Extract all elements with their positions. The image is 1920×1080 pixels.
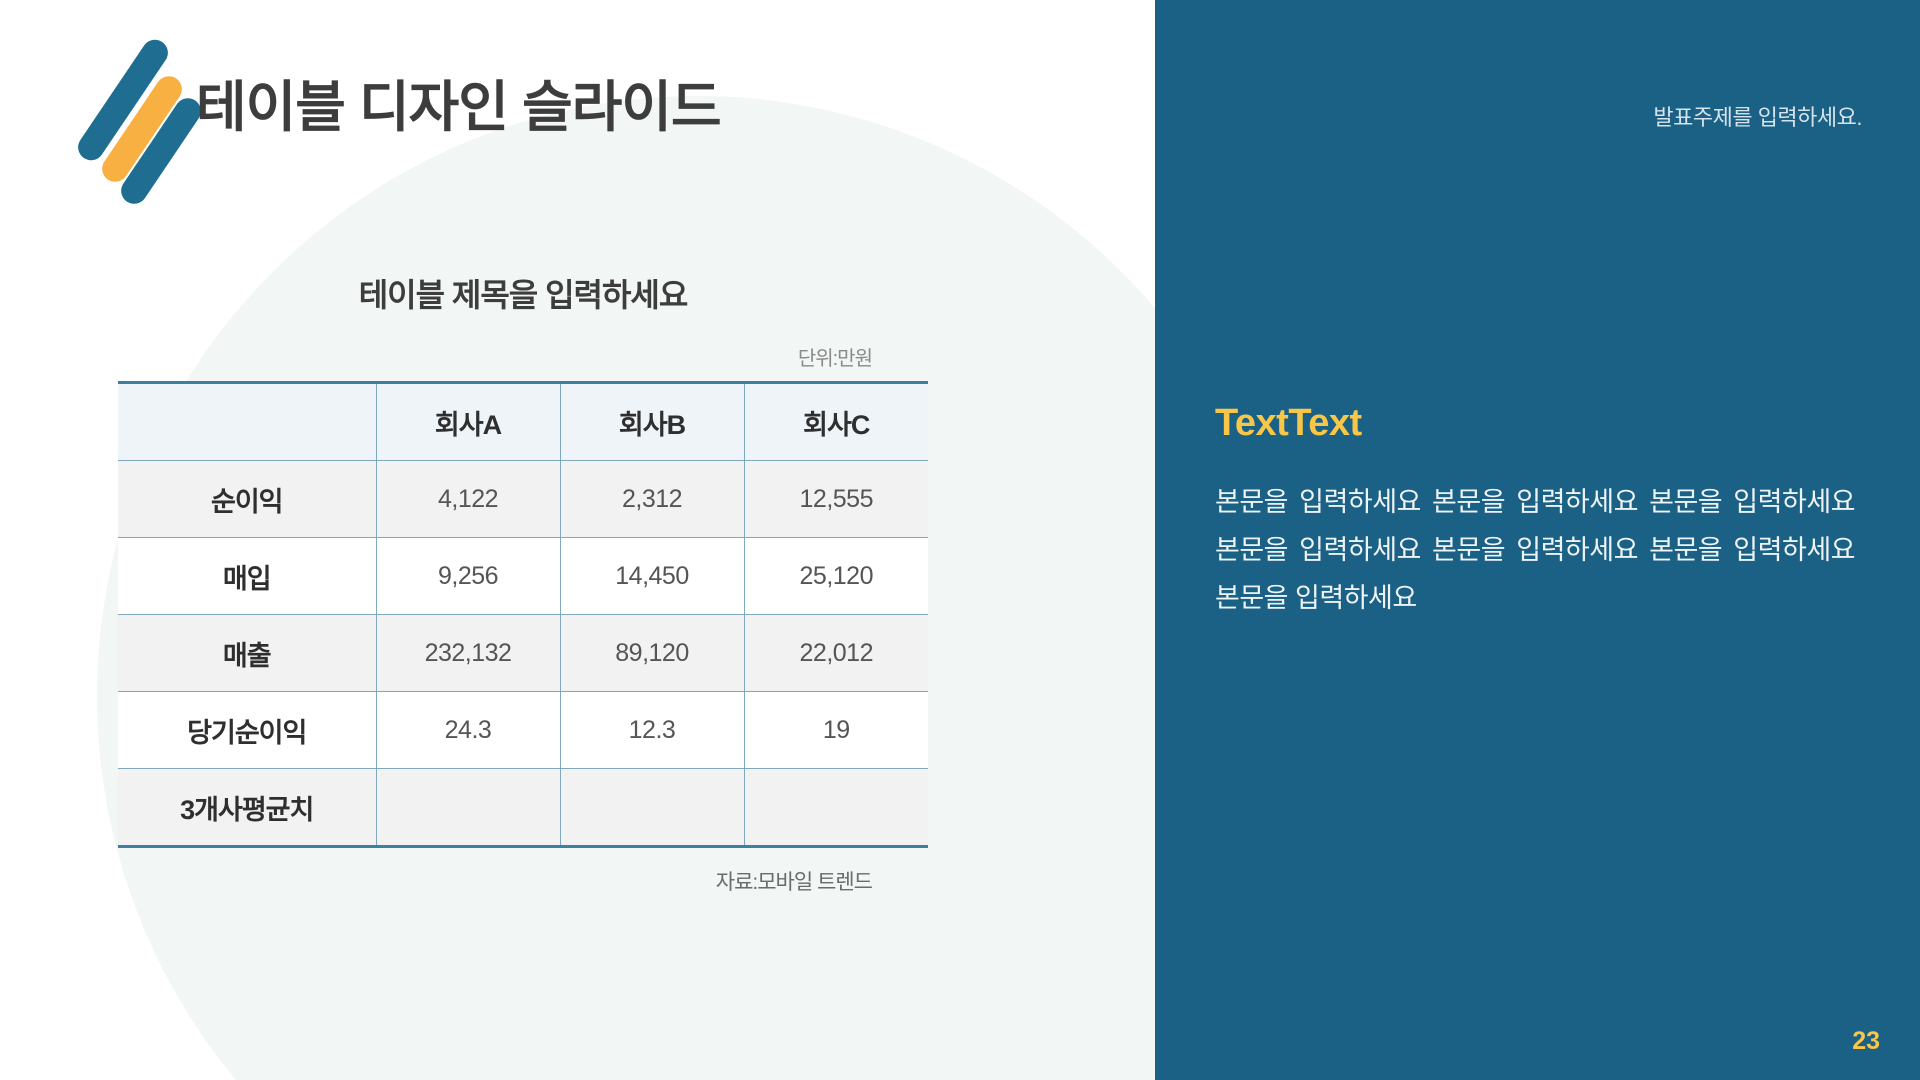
- cell-value: [376, 769, 560, 847]
- panel-body-text: 본문을 입력하세요 본문을 입력하세요 본문을 입력하세요 본문을 입력하세요 …: [1215, 478, 1855, 622]
- table-row: 순이익 4,122 2,312 12,555: [118, 461, 928, 538]
- table-unit-label: 단위:만원: [118, 342, 872, 371]
- panel-heading: TextText: [1215, 402, 1362, 445]
- table-header-row: 회사A 회사B 회사C: [118, 383, 928, 461]
- table-title: 테이블 제목을 입력하세요: [118, 270, 928, 316]
- row-label: 3개사평균치: [118, 769, 376, 847]
- cell-value: 14,450: [560, 538, 744, 615]
- table-col-header-company-c: 회사C: [744, 383, 928, 461]
- cell-value: 232,132: [376, 615, 560, 692]
- row-label: 매입: [118, 538, 376, 615]
- brand-logo-icon: [80, 28, 175, 188]
- cell-value: 19: [744, 692, 928, 769]
- data-table: 회사A 회사B 회사C 순이익 4,122 2,312 12,555 매입 9,…: [118, 381, 928, 848]
- table-row: 매입 9,256 14,450 25,120: [118, 538, 928, 615]
- row-label: 순이익: [118, 461, 376, 538]
- table-row: 3개사평균치: [118, 769, 928, 847]
- side-panel: 발표주제를 입력하세요. TextText 본문을 입력하세요 본문을 입력하세…: [1155, 0, 1920, 1080]
- slide-left-stage: 테이블 디자인 슬라이드 테이블 제목을 입력하세요 단위:만원 회사A 회사B…: [0, 0, 1155, 1080]
- table-col-header-company-b: 회사B: [560, 383, 744, 461]
- cell-value: 2,312: [560, 461, 744, 538]
- page-number: 23: [1852, 1027, 1880, 1056]
- table-row: 당기순이익 24.3 12.3 19: [118, 692, 928, 769]
- cell-value: 89,120: [560, 615, 744, 692]
- cell-value: 12,555: [744, 461, 928, 538]
- cell-value: 22,012: [744, 615, 928, 692]
- cell-value: [560, 769, 744, 847]
- cell-value: [744, 769, 928, 847]
- slide-title: 테이블 디자인 슬라이드: [196, 62, 721, 142]
- row-label: 매출: [118, 615, 376, 692]
- presentation-topic-label: 발표주제를 입력하세요.: [1653, 100, 1862, 132]
- cell-value: 25,120: [744, 538, 928, 615]
- cell-value: 24.3: [376, 692, 560, 769]
- table-block: 테이블 제목을 입력하세요 단위:만원 회사A 회사B 회사C 순이익: [118, 270, 928, 896]
- table-col-header-company-a: 회사A: [376, 383, 560, 461]
- row-label: 당기순이익: [118, 692, 376, 769]
- table-col-header-blank: [118, 383, 376, 461]
- table-row: 매출 232,132 89,120 22,012: [118, 615, 928, 692]
- table-source-label: 자료:모바일 트렌드: [118, 866, 872, 896]
- cell-value: 12.3: [560, 692, 744, 769]
- cell-value: 4,122: [376, 461, 560, 538]
- cell-value: 9,256: [376, 538, 560, 615]
